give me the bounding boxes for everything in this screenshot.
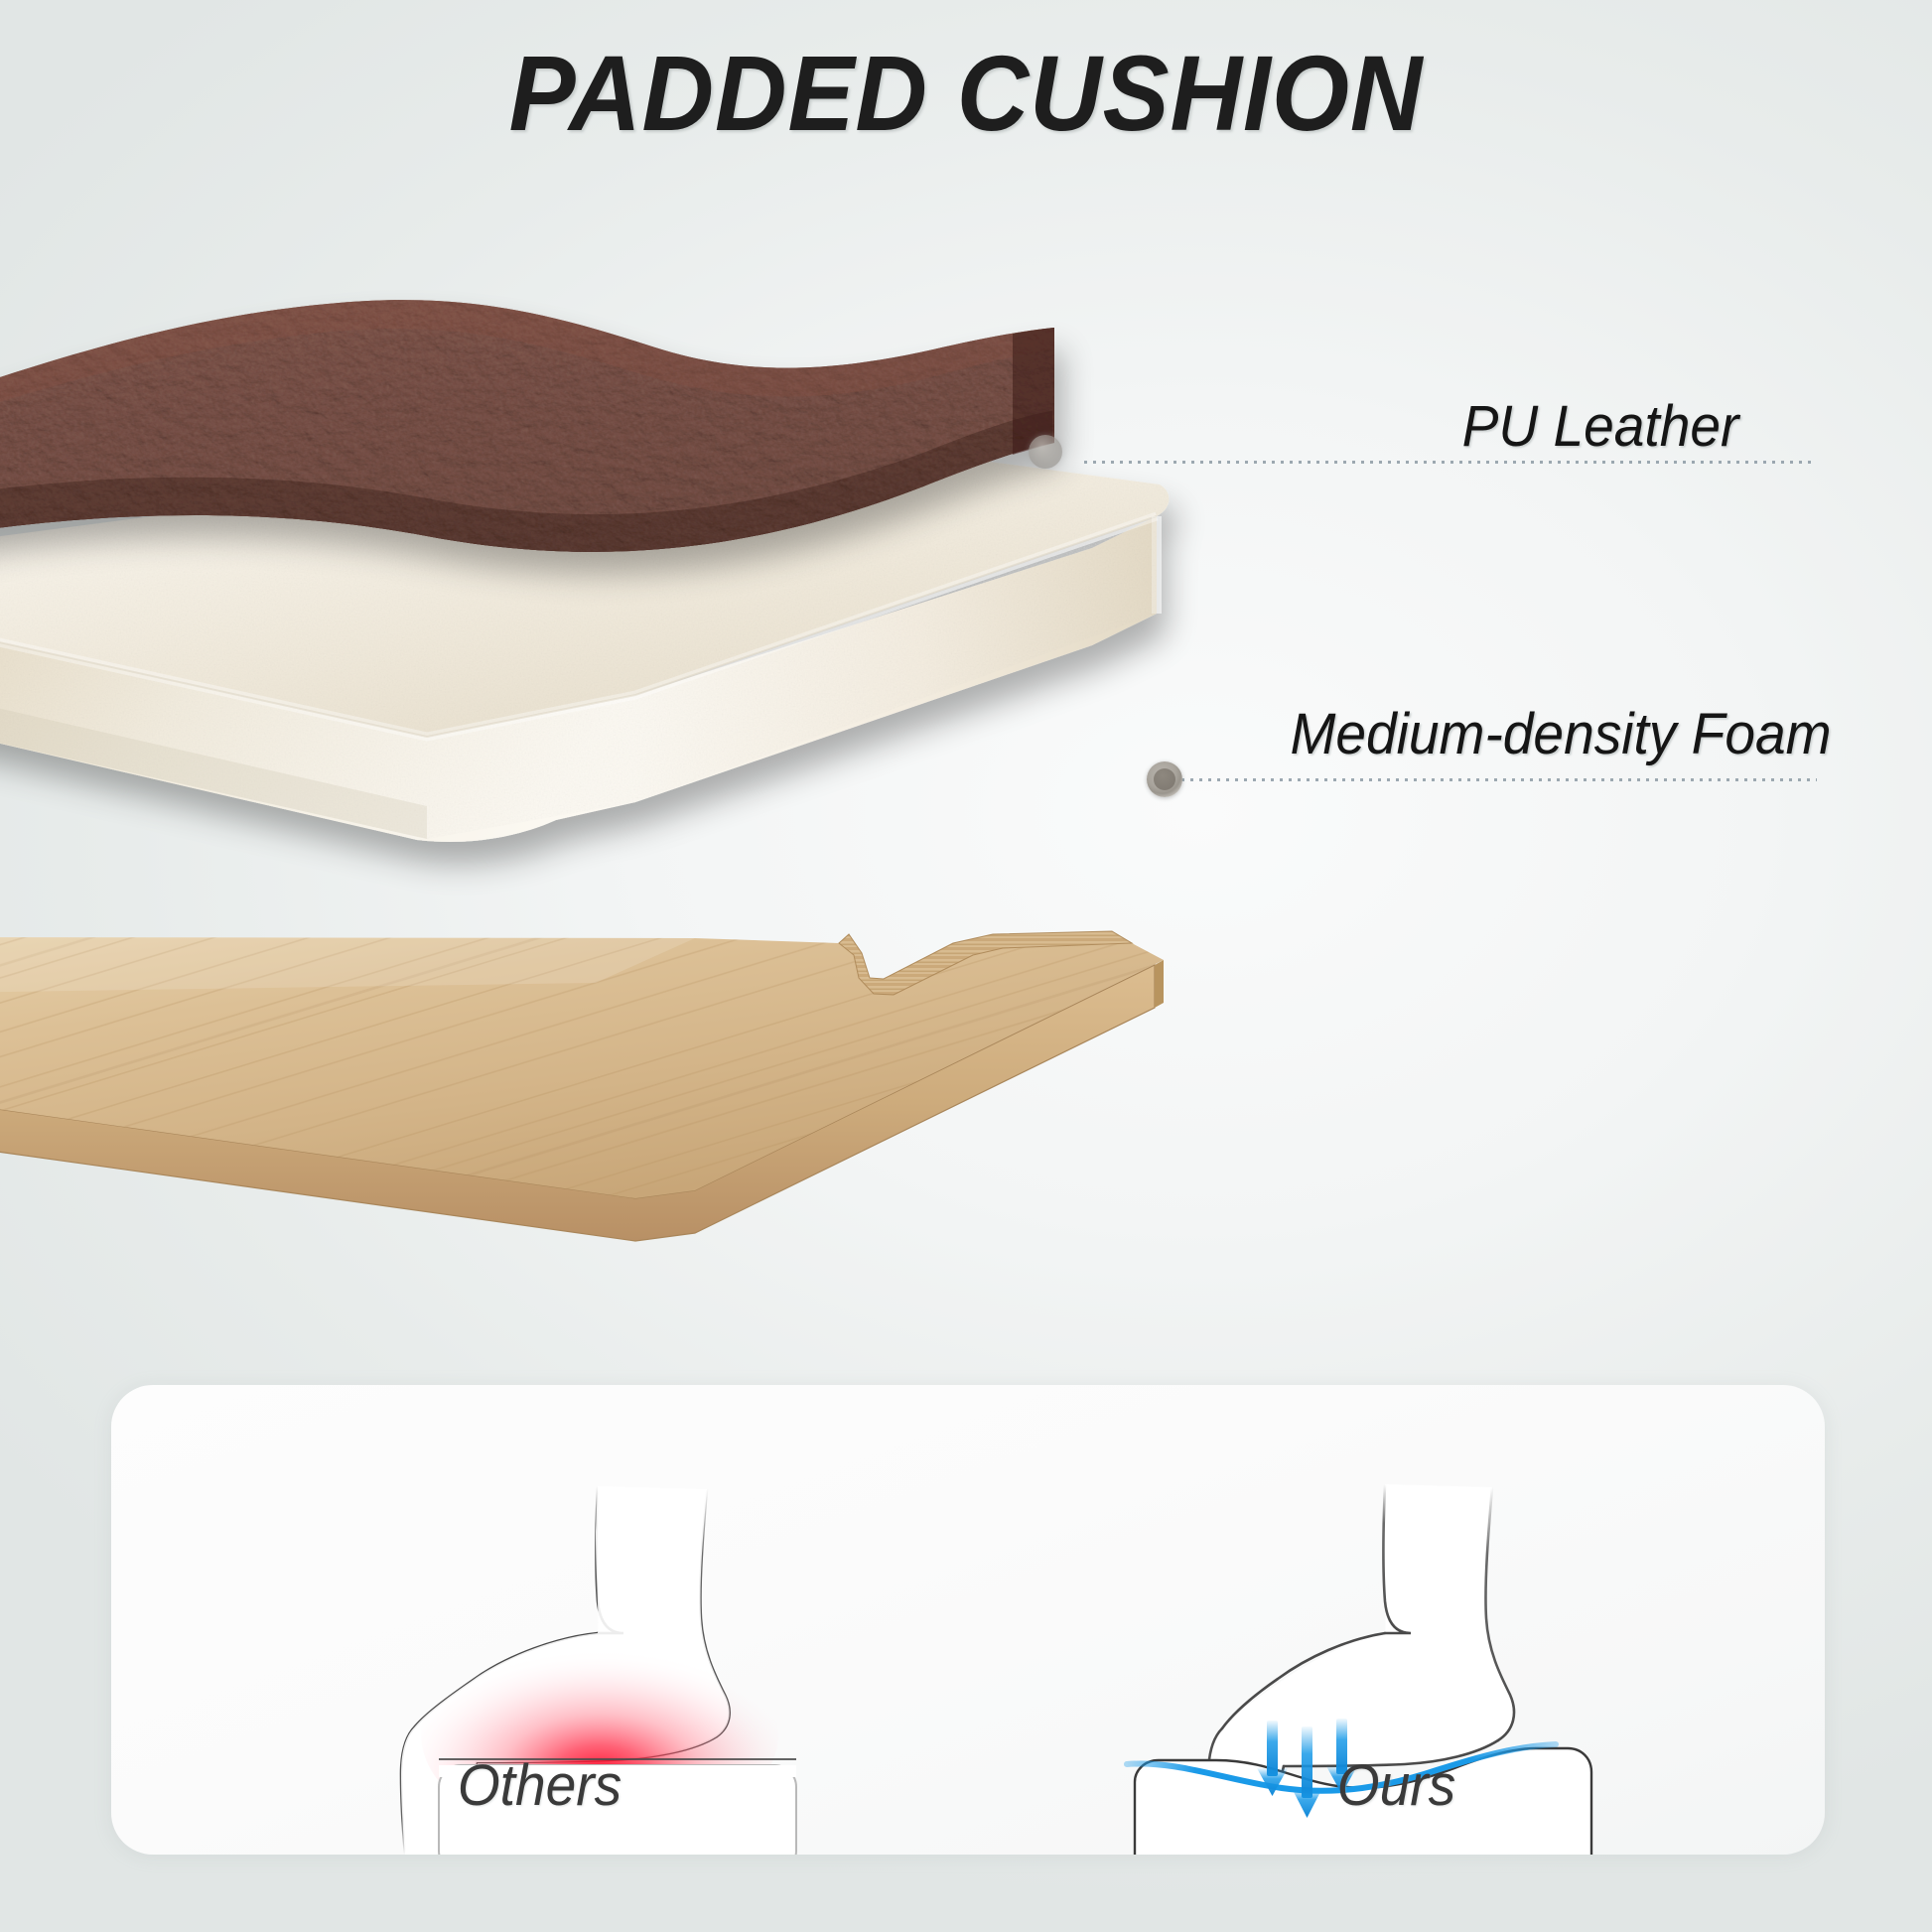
leader-line-medium-density-foam <box>1181 778 1817 781</box>
foam-front-right-face <box>635 516 1157 802</box>
exploded-layer-stack <box>0 0 1932 1330</box>
page-title: PADDED CUSHION <box>68 36 1864 152</box>
comparison-others: Others <box>111 1385 968 1855</box>
infographic-canvas: PADDED CUSHION <box>0 0 1932 1932</box>
wood-edge-front <box>0 965 1155 1241</box>
leather-top-surface <box>0 300 1054 552</box>
layer-label-pu-leather: PU Leather <box>1462 393 1739 460</box>
leader-dot-pu-leather <box>1029 435 1062 469</box>
wood-edge-right <box>1155 960 1164 1008</box>
wood-top-surface <box>0 937 1164 1198</box>
layer-medium-density-foam <box>0 449 1169 842</box>
foam-front-left-face <box>0 629 635 839</box>
layer-label-medium-density-foam: Medium-density Foam <box>1290 701 1831 767</box>
comparison-caption-ours: Ours <box>990 1752 1804 1819</box>
leather-thickness-edge <box>0 425 1052 552</box>
comparison-caption-others: Others <box>133 1752 947 1819</box>
leader-dot-medium-density-foam <box>1147 761 1182 797</box>
wood-grain-overlay <box>0 937 1164 1198</box>
layer-pu-leather <box>0 300 1054 552</box>
comparison-panel: Others <box>111 1385 1825 1855</box>
comparison-ours: Ours <box>968 1385 1825 1855</box>
wood-ply-edge-notch <box>839 931 1132 995</box>
leather-contact-shadow <box>0 514 894 598</box>
layer-wood-board <box>0 931 1164 1241</box>
foam-top-surface <box>0 449 1169 737</box>
leather-grain-texture <box>0 300 1054 552</box>
leader-line-pu-leather <box>1084 461 1817 464</box>
foam-speckle-texture <box>0 449 1169 839</box>
